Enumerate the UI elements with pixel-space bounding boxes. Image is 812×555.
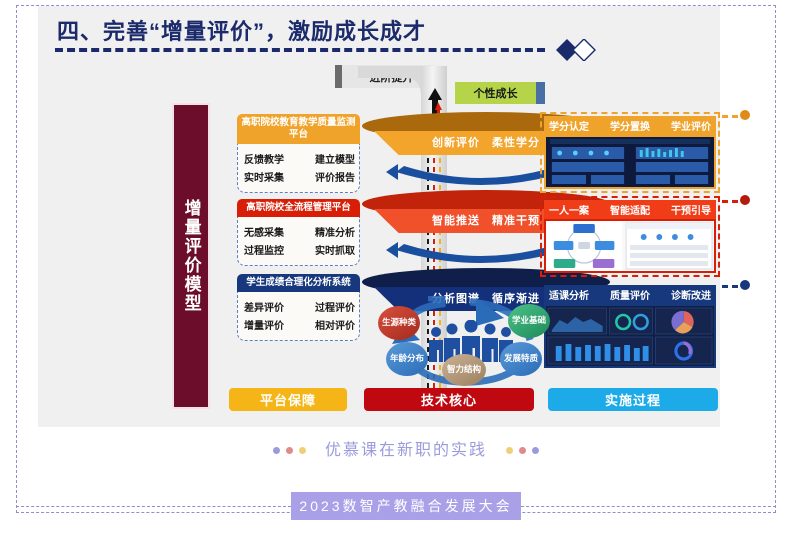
- card-row: 实时采集评价报告: [244, 169, 355, 184]
- card-item: 差异评价: [244, 299, 284, 314]
- edge-dot-red: [740, 195, 750, 205]
- panel-tabs: 一人一案 智能适配 干预引导: [544, 200, 716, 219]
- panel-tab[interactable]: 学业评价: [671, 118, 711, 133]
- card-item: 建立模型: [315, 151, 355, 166]
- card-quality-monitoring-platform: 高职院校教育教学质量监测平台 反馈教学建立模型 实时采集评价报告: [237, 114, 360, 193]
- card-body: 无感采集精准分析 过程监控实时抓取: [237, 217, 360, 266]
- card-item: 过程监控: [244, 242, 284, 257]
- slide-root: 四、完善“增量评价”，激励成长成才 增量评价模型 进阶提升 个性成长 创: [0, 0, 812, 555]
- oval-intelligence-structure: 智力结构: [442, 354, 486, 386]
- footer-caption: 优慕课在新职的实践: [0, 436, 812, 460]
- edge-connector-orange: [722, 115, 738, 118]
- dark-dashboard-screenshot: [544, 135, 716, 189]
- card-row: 增量评价相对评价: [244, 317, 355, 332]
- card-item: 实时采集: [244, 169, 284, 184]
- card-header: 高职院校教育教学质量监测平台: [237, 114, 360, 144]
- panel-frame: 学分认定 学分置换 学业评价: [540, 112, 720, 193]
- oval-academic-foundation: 学业基础: [508, 304, 550, 338]
- bar-technical-core: 技术核心: [364, 388, 534, 411]
- oval-age-distribution: 年龄分布: [386, 342, 428, 376]
- conference-bar: 2023数智产教融合发展大会: [291, 492, 521, 520]
- card-row: 无感采集精准分析: [244, 224, 355, 239]
- panel-tabs: 适课分析 质量评价 诊断改进: [544, 285, 716, 304]
- panel-tab[interactable]: 学分置换: [610, 118, 650, 133]
- edge-dot-orange: [740, 110, 750, 120]
- panel-tab[interactable]: 一人一案: [549, 202, 589, 217]
- panel-credit-recognition: 学分认定 学分置换 学业评价: [540, 112, 720, 193]
- blue-analytics-dashboard-screenshot: [544, 304, 716, 368]
- panel-tab[interactable]: 诊断改进: [671, 287, 711, 302]
- oval-development-traits: 发展特质: [500, 342, 542, 376]
- panel-tab[interactable]: 智能适配: [610, 202, 650, 217]
- page-title: 四、完善“增量评价”，激励成长成才: [57, 14, 426, 46]
- footer-dash-right: [521, 506, 776, 507]
- tag-personal-growth: 个性成长: [455, 82, 545, 104]
- card-row: 反馈教学建立模型: [244, 151, 355, 166]
- panel-frame: 一人一案 智能适配 干预引导: [540, 196, 720, 277]
- bar-platform-guarantee: 平台保障: [229, 388, 347, 411]
- card-item: 反馈教学: [244, 151, 284, 166]
- footer-dash-left: [16, 506, 291, 507]
- card-body: 反馈教学建立模型 实时采集评价报告: [237, 144, 360, 193]
- card-score-analysis-system: 学生成绩合理化分析系统 差异评价过程评价 增量评价相对评价: [237, 274, 360, 341]
- bar-implementation-process: 实施过程: [548, 388, 718, 411]
- panel-course-analysis: 适课分析 质量评价 诊断改进: [540, 281, 720, 372]
- card-body: 差异评价过程评价 增量评价相对评价: [237, 292, 360, 341]
- panel-tab[interactable]: 干预引导: [671, 202, 711, 217]
- title-dashed-rule: [55, 48, 545, 52]
- vertical-banner: 增量评价模型: [172, 103, 210, 409]
- student-profile-cluster: 生源种类 年龄分布 智力结构 发展特质 学业基础: [380, 296, 560, 388]
- card-item: 相对评价: [315, 317, 355, 332]
- card-row: 差异评价过程评价: [244, 299, 355, 314]
- caption-text: 优慕课在新职的实践: [325, 442, 487, 459]
- edge-connector-navy: [722, 285, 738, 288]
- double-diamond-icon: [556, 39, 598, 61]
- card-header: 高职院校全流程管理平台: [237, 199, 360, 217]
- card-item: 实时抓取: [315, 242, 355, 257]
- card-row: 过程监控实时抓取: [244, 242, 355, 257]
- edge-connector-red: [722, 200, 738, 203]
- panel-tabs: 学分认定 学分置换 学业评价: [544, 116, 716, 135]
- edge-dot-navy: [740, 280, 750, 290]
- card-item: 过程评价: [315, 299, 355, 314]
- card-item: 增量评价: [244, 317, 284, 332]
- panel-one-person-one-plan: 一人一案 智能适配 干预引导: [540, 196, 720, 277]
- caption-dots-right: [503, 442, 542, 460]
- card-item: 精准分析: [315, 224, 355, 239]
- vertical-banner-label: 增量评价模型: [180, 199, 201, 313]
- card-header: 学生成绩合理化分析系统: [237, 274, 360, 292]
- caption-dots-left: [270, 442, 309, 460]
- light-flowchart-screenshot: [544, 219, 716, 273]
- oval-source-type: 生源种类: [378, 306, 420, 340]
- panel-frame: 适课分析 质量评价 诊断改进: [540, 281, 720, 372]
- card-full-process-platform: 高职院校全流程管理平台 无感采集精准分析 过程监控实时抓取: [237, 199, 360, 266]
- card-item: 评价报告: [315, 169, 355, 184]
- panel-tab[interactable]: 学分认定: [549, 118, 589, 133]
- card-item: 无感采集: [244, 224, 284, 239]
- panel-tab[interactable]: 质量评价: [610, 287, 650, 302]
